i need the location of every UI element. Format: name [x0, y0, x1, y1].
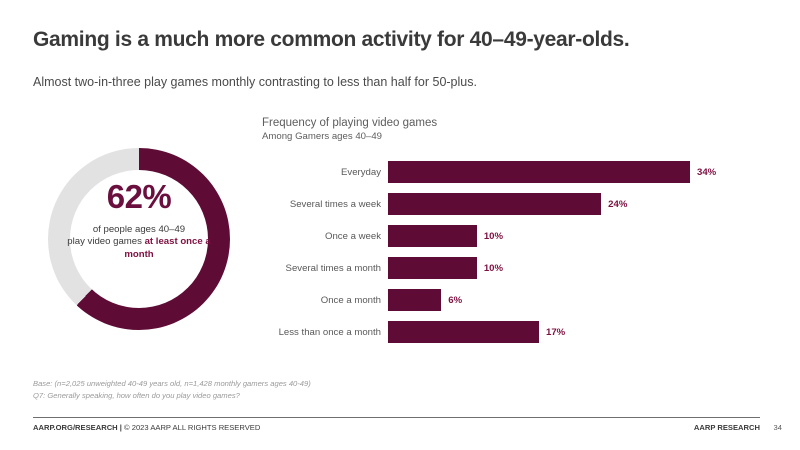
bar-value-label: 6% — [448, 295, 462, 306]
footer-divider — [33, 417, 760, 418]
chart-subtitle: Among Gamers ages 40–49 — [262, 131, 762, 143]
bar-value-label: 24% — [608, 199, 627, 210]
bar-fill — [388, 225, 477, 247]
bar-track: 24% — [388, 193, 762, 215]
bar-track: 17% — [388, 321, 762, 343]
bar-row: Everyday34% — [262, 161, 762, 183]
bar-category-label: Once a week — [262, 231, 388, 242]
donut-center-text: 62% of people ages 40–49 play video game… — [62, 180, 216, 262]
page-subtitle: Almost two-in-three play games monthly c… — [33, 75, 477, 89]
bar-value-label: 17% — [546, 327, 565, 338]
bar-track: 34% — [388, 161, 762, 183]
footnote-base: Base: (n=2,025 unweighted 40-49 years ol… — [33, 378, 311, 390]
bar-track: 10% — [388, 225, 762, 247]
footnote-question: Q7: Generally speaking, how often do you… — [33, 390, 311, 402]
donut-caption: of people ages 40–49 play video games at… — [62, 224, 216, 262]
bar-track: 6% — [388, 289, 762, 311]
footer-page-number: 34 — [774, 423, 782, 432]
footer-copyright: AARP.ORG/RESEARCH | © 2023 AARP ALL RIGH… — [33, 423, 260, 432]
page-title: Gaming is a much more common activity fo… — [33, 28, 629, 52]
bar-category-label: Less than once a month — [262, 327, 388, 338]
bar-row: Once a month6% — [262, 289, 762, 311]
bar-row: Once a week10% — [262, 225, 762, 247]
bar-fill — [388, 289, 441, 311]
bar-fill — [388, 193, 601, 215]
footnotes: Base: (n=2,025 unweighted 40-49 years ol… — [33, 378, 311, 402]
bar-chart: Frequency of playing video games Among G… — [262, 116, 762, 144]
bar-fill — [388, 161, 690, 183]
bar-fill — [388, 321, 539, 343]
bar-row: Several times a week24% — [262, 193, 762, 215]
donut-caption-line2: play video games — [67, 236, 144, 247]
donut-caption-line1: of people ages 40–49 — [93, 224, 185, 235]
bar-row: Several times a month10% — [262, 257, 762, 279]
donut-chart: 62% of people ages 40–49 play video game… — [48, 148, 230, 330]
bar-list: Everyday34%Several times a week24%Once a… — [262, 161, 762, 353]
bar-category-label: Several times a month — [262, 263, 388, 274]
footer-brand: AARP.ORG/RESEARCH — [33, 423, 118, 432]
bar-value-label: 10% — [484, 263, 503, 274]
bar-track: 10% — [388, 257, 762, 279]
footer-research-label: AARP RESEARCH — [694, 423, 760, 432]
bar-category-label: Once a month — [262, 295, 388, 306]
bar-row: Less than once a month17% — [262, 321, 762, 343]
bar-fill — [388, 257, 477, 279]
footer-rights: © 2023 AARP ALL RIGHTS RESERVED — [124, 423, 260, 432]
bar-value-label: 34% — [697, 167, 716, 178]
chart-title: Frequency of playing video games — [262, 116, 762, 130]
bar-category-label: Everyday — [262, 167, 388, 178]
bar-category-label: Several times a week — [262, 199, 388, 210]
donut-percent: 62% — [62, 180, 216, 215]
bar-value-label: 10% — [484, 231, 503, 242]
